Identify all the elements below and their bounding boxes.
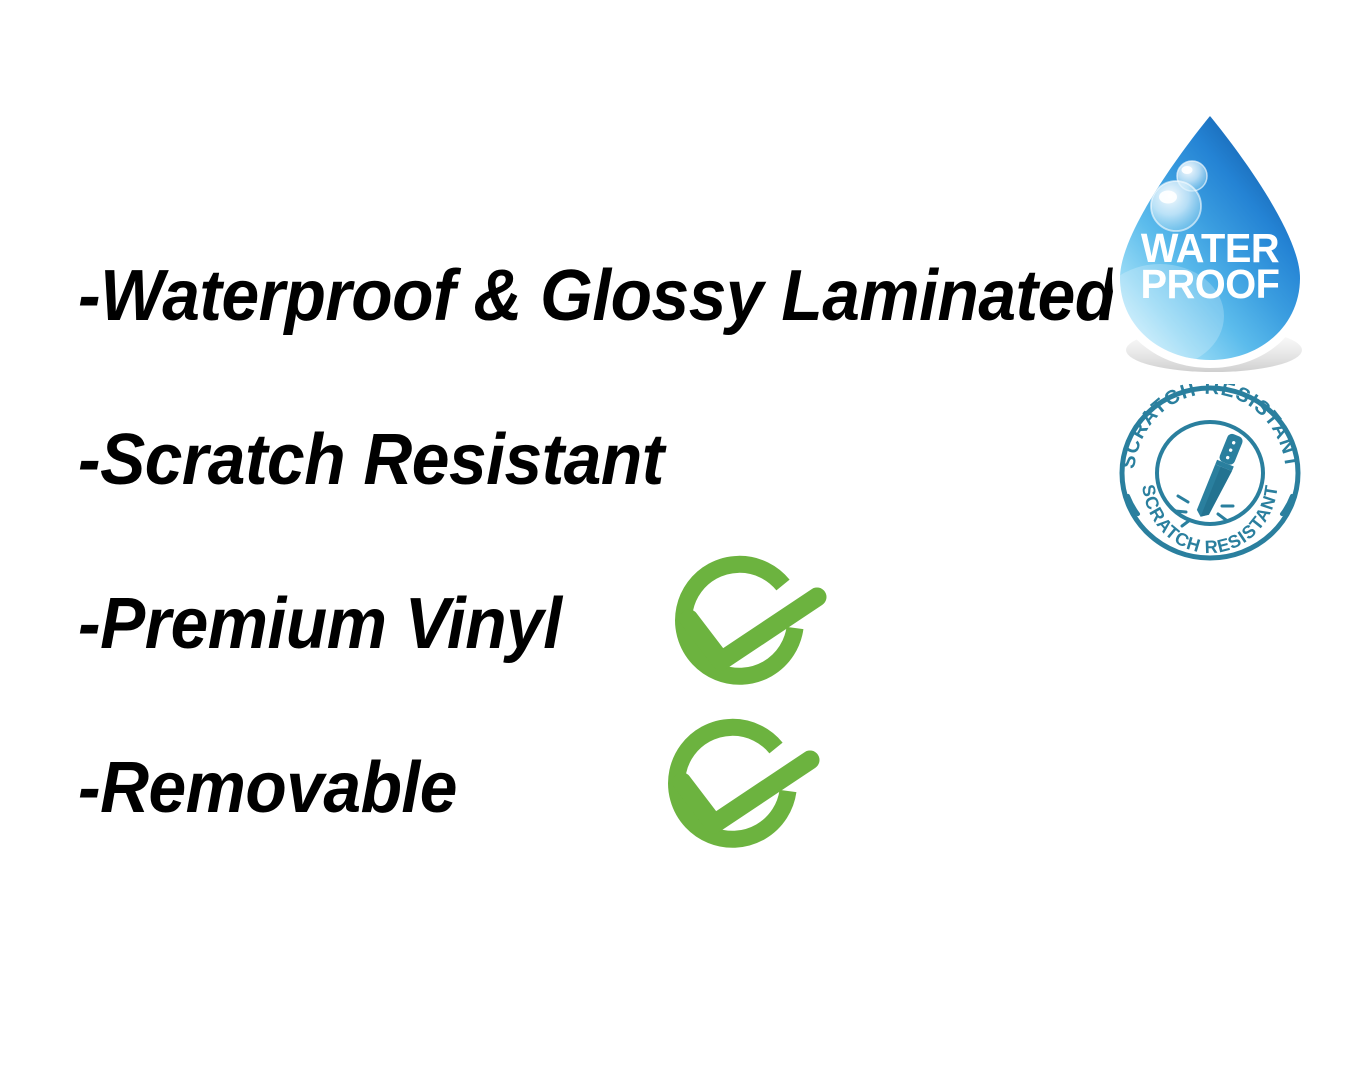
list-item: -Removable <box>78 750 1108 914</box>
list-item: -Scratch Resistant <box>78 422 1108 586</box>
green-check-circle-icon <box>645 553 845 703</box>
check-mark-removable <box>638 716 838 866</box>
feature-highlight-graphic: -Waterproof & Glossy Laminated -Scratch … <box>0 0 1359 1080</box>
water-drop-icon <box>1108 106 1312 368</box>
feature-label-premium-vinyl: -Premium Vinyl <box>78 586 562 662</box>
feature-label-scratch-resistant: -Scratch Resistant <box>78 422 664 498</box>
list-item: -Premium Vinyl <box>78 586 1108 750</box>
waterproof-badge: WATER PROOF <box>1108 106 1312 368</box>
green-check-circle-icon <box>638 716 838 866</box>
feature-label-waterproof-glossy-laminated: -Waterproof & Glossy Laminated <box>78 258 1116 334</box>
scratch-resistant-stamp-icon: SCRATCH RESISTANT SCRATCH RESISTANT <box>1114 384 1306 562</box>
knife-icon <box>1195 432 1245 521</box>
feature-label-removable: -Removable <box>78 750 457 826</box>
scratch-resistant-badge: SCRATCH RESISTANT SCRATCH RESISTANT <box>1114 384 1306 562</box>
stamp-text-top: SCRATCH RESISTANT <box>1117 384 1302 470</box>
feature-list: -Waterproof & Glossy Laminated -Scratch … <box>78 258 1108 914</box>
water-bubble-large-icon <box>1151 181 1201 231</box>
check-mark-premium-vinyl <box>645 553 845 703</box>
list-item: -Waterproof & Glossy Laminated <box>78 258 1108 422</box>
